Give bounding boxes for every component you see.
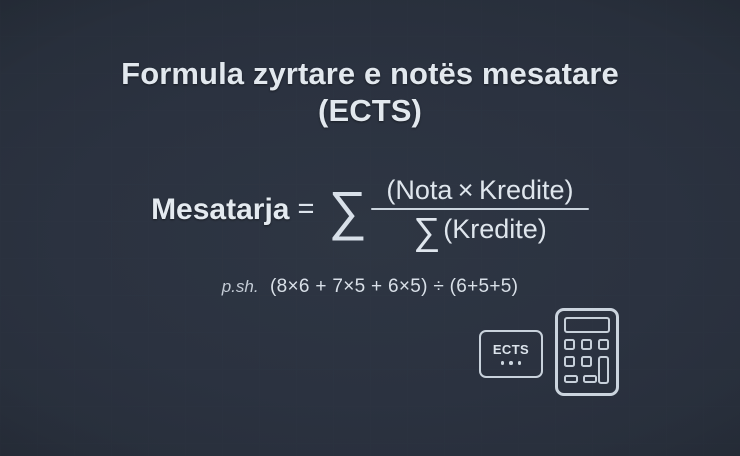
summation-sigma-icon: ∑	[328, 184, 367, 238]
ects-card-icon: ECTS	[479, 330, 543, 378]
icon-group: ECTS	[479, 308, 629, 400]
calculator-key-tall	[598, 356, 609, 384]
calculator-icon	[555, 308, 619, 396]
fraction: (Nota × Kredite) ∑ (Kredite)	[371, 175, 589, 245]
calculator-key	[564, 356, 575, 367]
example-label: p.sh.	[222, 277, 259, 296]
calculator-key-wide	[583, 375, 597, 383]
denominator-sigma-icon: ∑	[413, 217, 440, 247]
example-line: p.sh. (8×6 + 7×5 + 6×5) ÷ (6+5+5)	[0, 276, 740, 298]
fraction-numerator: (Nota × Kredite)	[371, 175, 589, 208]
title-line-2: (ECTS)	[0, 93, 740, 130]
title-line-1: Formula zyrtare e notës mesatare	[0, 56, 740, 93]
ects-card-label: ECTS	[493, 343, 529, 356]
formula-block: Mesatarja = ∑ (Nota × Kredite) ∑ (Kredit…	[0, 175, 740, 245]
page-title: Formula zyrtare e notës mesatare (ECTS)	[0, 56, 740, 129]
ects-card-dots-icon	[501, 361, 522, 365]
dot	[518, 361, 522, 365]
calculator-key	[564, 339, 575, 350]
calculator-keypad-icon	[564, 339, 610, 389]
denominator-text: (Kredite)	[443, 214, 547, 244]
dot	[501, 361, 505, 365]
dot	[509, 361, 513, 365]
calculator-key	[598, 339, 609, 350]
calculator-key	[581, 356, 592, 367]
formula-left-hand-side: Mesatarja	[151, 195, 289, 225]
calculator-key-wide	[564, 375, 578, 383]
example-expression: (8×6 + 7×5 + 6×5) ÷ (6+5+5)	[270, 276, 518, 297]
fraction-denominator: ∑ (Kredite)	[371, 210, 589, 244]
calculator-key	[581, 339, 592, 350]
slide-canvas: Formula zyrtare e notës mesatare (ECTS) …	[0, 0, 740, 456]
equals-sign: =	[297, 195, 314, 224]
calculator-display-icon	[564, 317, 610, 333]
